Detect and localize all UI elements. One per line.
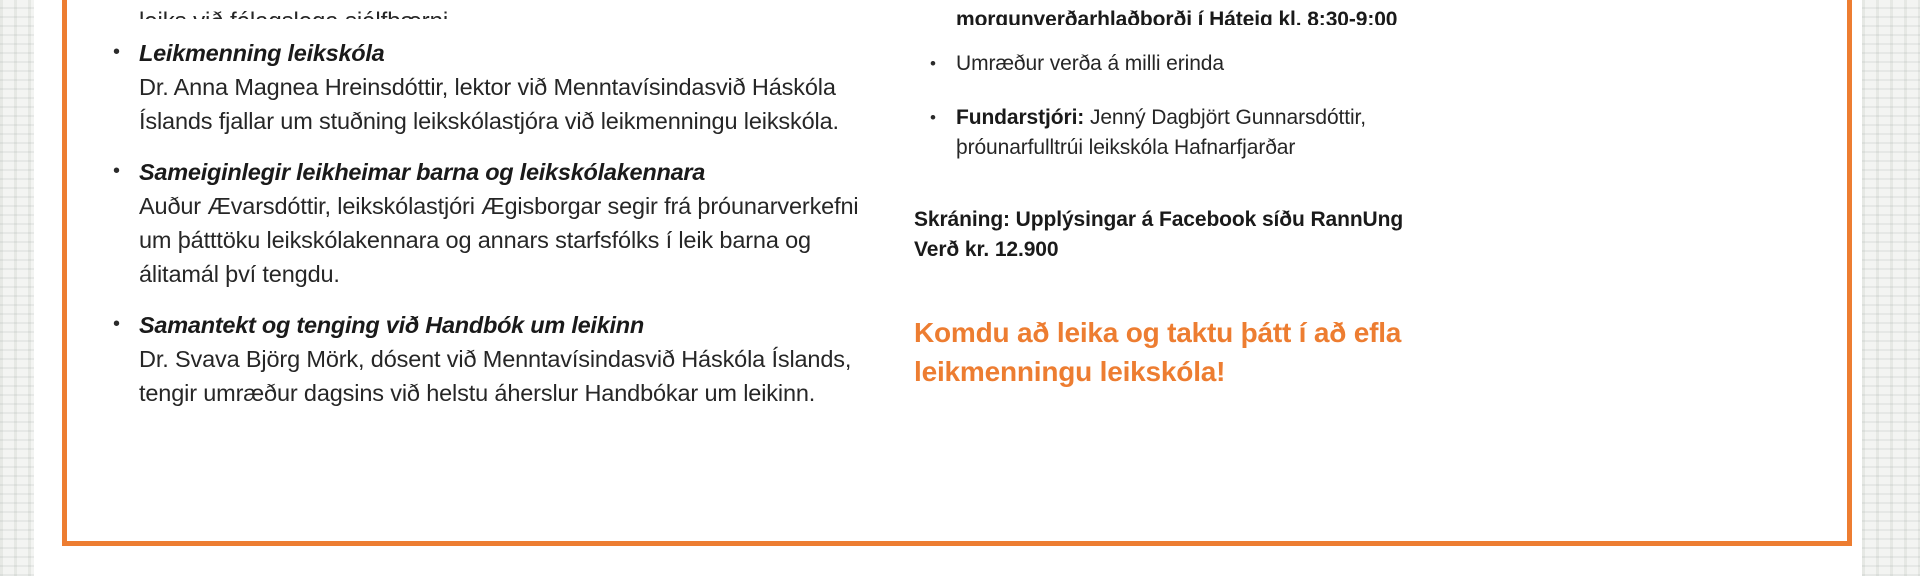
body-line: Dr. Svava Björg Mörk, dósent við Menntav…: [139, 342, 895, 376]
body-line: Íslands fjallar um stuðning leikskólastj…: [139, 104, 895, 138]
list-item-body: Auður Ævarsdóttir, leikskólastjóri Ægisb…: [139, 189, 895, 291]
list-item-body: Fundarstjóri: Jenný Dagbjört Gunnarsdótt…: [956, 103, 1552, 163]
registration-info: Skráning: Upplýsingar á Facebook síðu Ra…: [914, 205, 1552, 265]
cta-line: leikmenningu leikskóla!: [914, 352, 1552, 391]
spacer: [912, 25, 1552, 49]
body-line: álitamál því tengdu.: [139, 257, 895, 291]
spacer: [95, 19, 895, 37]
cta-line: Komdu að leika og taktu þátt í að efla: [914, 313, 1552, 352]
body-line: tengir umræður dagsins við helstu áhersl…: [139, 376, 895, 410]
moderator-label: Fundarstjóri:: [956, 106, 1084, 129]
list-item-title: Samantekt og tenging við Handbók um leik…: [139, 309, 895, 342]
right-clipped-intro-line: morgunverðarhlaðborði í Háteig kl. 8:30-…: [956, 5, 1552, 25]
price-line: Verð kr. 12.900: [914, 235, 1552, 265]
body-line: Dr. Anna Magnea Hreinsdóttir, lektor við…: [139, 70, 895, 104]
list-item: • Samantekt og tenging við Handbók um le…: [95, 309, 895, 410]
left-clipped-intro-line: leiks við félagslega sjálfbærni.: [139, 5, 895, 19]
list-item: • Umræður verða á milli erinda: [912, 49, 1552, 79]
page-margin-right: [1862, 0, 1920, 576]
bullet-dot-icon: •: [930, 49, 944, 79]
body-line: Auður Ævarsdóttir, leikskólastjóri Ægisb…: [139, 189, 895, 223]
body-line: um þátttöku leikskólakennara og annars s…: [139, 223, 895, 257]
spacer: [95, 138, 895, 156]
page-margin-left: [0, 0, 34, 576]
list-item: • Fundarstjóri: Jenný Dagbjört Gunnarsdó…: [912, 103, 1552, 163]
spacer: [95, 291, 895, 309]
call-to-action: Komdu að leika og taktu þátt í að efla l…: [914, 313, 1552, 391]
spacer: [912, 163, 1552, 187]
moderator-line: Fundarstjóri: Jenný Dagbjört Gunnarsdótt…: [956, 103, 1552, 133]
bullet-dot-icon: •: [113, 309, 127, 339]
list-item-body: Dr. Svava Björg Mörk, dósent við Menntav…: [139, 342, 895, 410]
spacer: [912, 187, 1552, 205]
bullet-dot-icon: •: [930, 103, 944, 133]
list-item-title: Sameiginlegir leikheimar barna og leiksk…: [139, 156, 895, 189]
list-item-body: Dr. Anna Magnea Hreinsdóttir, lektor við…: [139, 70, 895, 138]
spacer: [912, 265, 1552, 289]
list-item-body: Umræður verða á milli erinda: [956, 49, 1552, 79]
spacer: [912, 289, 1552, 313]
list-item-title: Leikmenning leikskóla: [139, 37, 895, 70]
list-item: • Leikmenning leikskóla Dr. Anna Magnea …: [95, 37, 895, 138]
bullet-dot-icon: •: [113, 37, 127, 67]
registration-line: Skráning: Upplýsingar á Facebook síðu Ra…: [914, 205, 1552, 235]
orange-content-frame: leiks við félagslega sjálfbærni. • Leikm…: [62, 0, 1852, 546]
spacer: [912, 79, 1552, 103]
moderator-name: Jenný Dagbjört Gunnarsdóttir,: [1084, 106, 1366, 129]
frame-inner: leiks við félagslega sjálfbærni. • Leikm…: [67, 5, 1847, 457]
list-item: • Sameiginlegir leikheimar barna og leik…: [95, 156, 895, 291]
bullet-dot-icon: •: [113, 156, 127, 186]
slide-root: leiks við félagslega sjálfbærni. • Leikm…: [0, 0, 1920, 576]
body-line: þróunarfulltrúi leikskóla Hafnarfjarðar: [956, 133, 1552, 163]
body-line: Umræður verða á milli erinda: [956, 49, 1552, 79]
right-column: morgunverðarhlaðborði í Háteig kl. 8:30-…: [912, 5, 1552, 391]
left-column: leiks við félagslega sjálfbærni. • Leikm…: [95, 5, 895, 410]
